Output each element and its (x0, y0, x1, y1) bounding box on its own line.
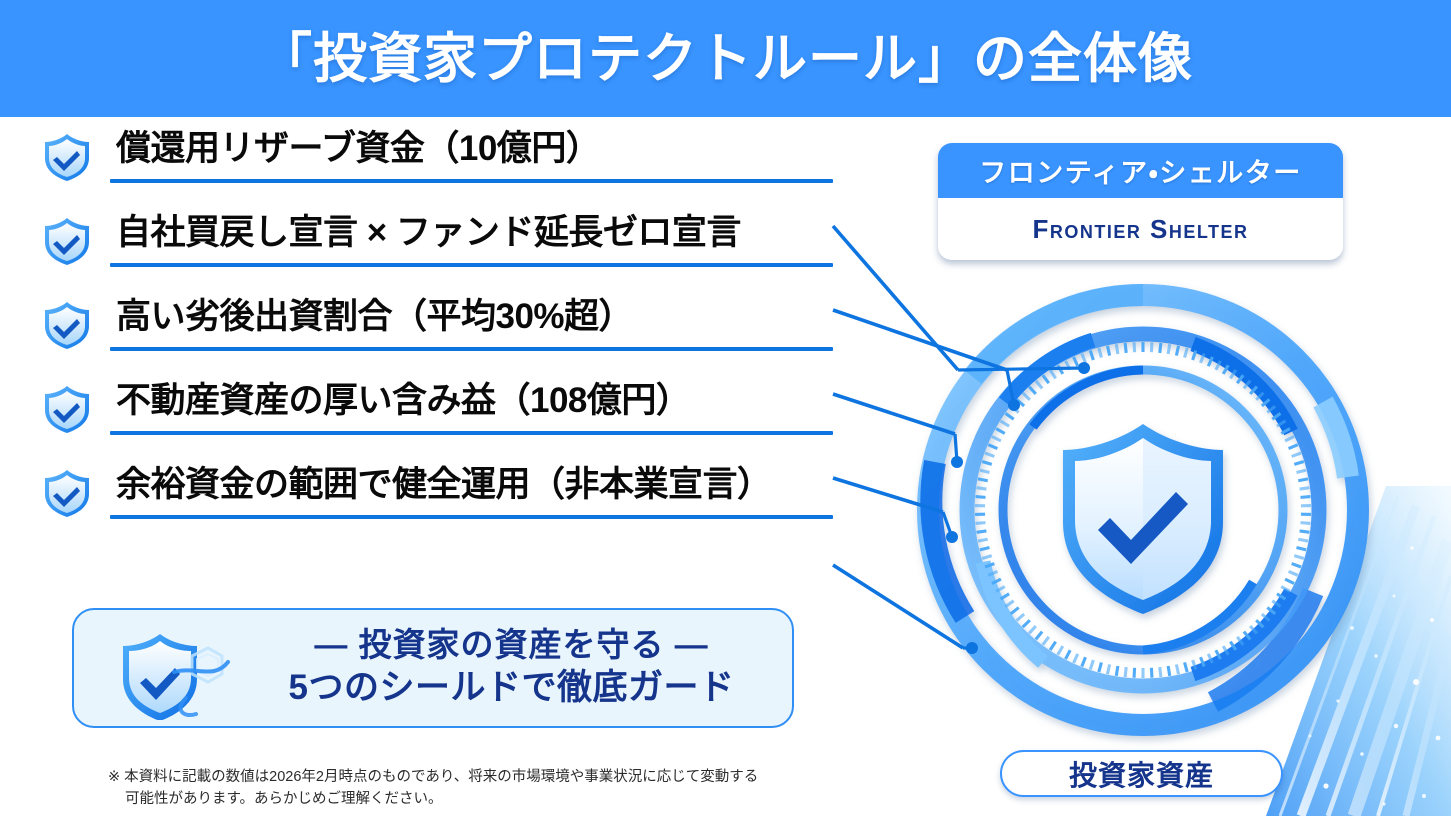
protect-shield-rings-graphic (893, 262, 1393, 749)
list-item-rule (110, 515, 833, 519)
shield-check-3d-icon (100, 628, 240, 720)
callout-line-2: 5つのシールドで徹底ガード (239, 666, 784, 711)
list-item[interactable]: 償還用リザーブ資金（10億円） (0, 117, 900, 201)
footnote: ※本資料に記載の数値は2026年2月時点のものであり、将来の市場環境や事業状況に… (108, 766, 828, 811)
footnote-mark: ※ (108, 769, 120, 785)
slide-root: 「投資家プロテクトルール」の全体像 (0, 0, 1451, 816)
list-item[interactable]: 不動産資産の厚い含み益（108億円） (0, 369, 900, 453)
page-title: 「投資家プロテクトルール」の全体像 (258, 32, 1193, 86)
list-item[interactable]: 高い劣後出資割合（平均30%超） (0, 285, 900, 369)
status-badge-investor-assets: 投資家資産 (1000, 750, 1283, 797)
asset-pill-label: 投資家資産 (1069, 754, 1214, 794)
shield-check-icon (42, 299, 92, 351)
brand-badge-bottom: Frontier Shelter (938, 198, 1343, 260)
brand-name-en: Frontier Shelter (1032, 214, 1248, 245)
brand-name-jp: フロンティア・シェルター (979, 151, 1302, 190)
footnote-line-1: 本資料に記載の数値は2026年2月時点のものであり、将来の市場環境や事業状況に応… (124, 769, 758, 785)
brand-badge-top: フロンティア・シェルター (938, 143, 1343, 198)
shield-check-icon (42, 467, 92, 519)
callout-text-block: ― 投資家の資産を守る ― 5つのシールドで徹底ガード (239, 624, 784, 711)
list-item-rule (110, 263, 833, 267)
list-item-rule (110, 431, 833, 435)
list-item-label: 不動産資産の厚い含み益（108億円） (116, 375, 690, 428)
list-item-label: 償還用リザーブ資金（10億円） (116, 123, 600, 176)
list-item-rule (110, 347, 833, 351)
footnote-line-2: 可能性があります。あらかじめご理解ください。 (108, 788, 828, 810)
list-item-label: 余裕資金の範囲で健全運用（非本業宣言） (116, 459, 772, 512)
list-item[interactable]: 自社買戻し宣言 × ファンド延長ゼロ宣言 (0, 201, 900, 285)
list-item-rule (110, 179, 833, 183)
summary-callout: ― 投資家の資産を守る ― 5つのシールドで徹底ガード (72, 608, 794, 728)
brand-badge: フロンティア・シェルター Frontier Shelter (938, 143, 1343, 260)
header-bar: 「投資家プロテクトルール」の全体像 (0, 0, 1451, 117)
callout-line-1: ― 投資家の資産を守る ― (239, 624, 784, 666)
list-item-label: 高い劣後出資割合（平均30%超） (116, 291, 633, 344)
protect-rule-list: 償還用リザーブ資金（10億円） 自社買戻し宣言 × ファンド延長ゼロ宣言 (0, 117, 900, 537)
shield-check-icon (42, 383, 92, 435)
shield-check-icon (42, 215, 92, 267)
list-item-label: 自社買戻し宣言 × ファンド延長ゼロ宣言 (116, 207, 741, 260)
list-item[interactable]: 余裕資金の範囲で健全運用（非本業宣言） (0, 453, 900, 537)
shield-check-icon (42, 131, 92, 183)
